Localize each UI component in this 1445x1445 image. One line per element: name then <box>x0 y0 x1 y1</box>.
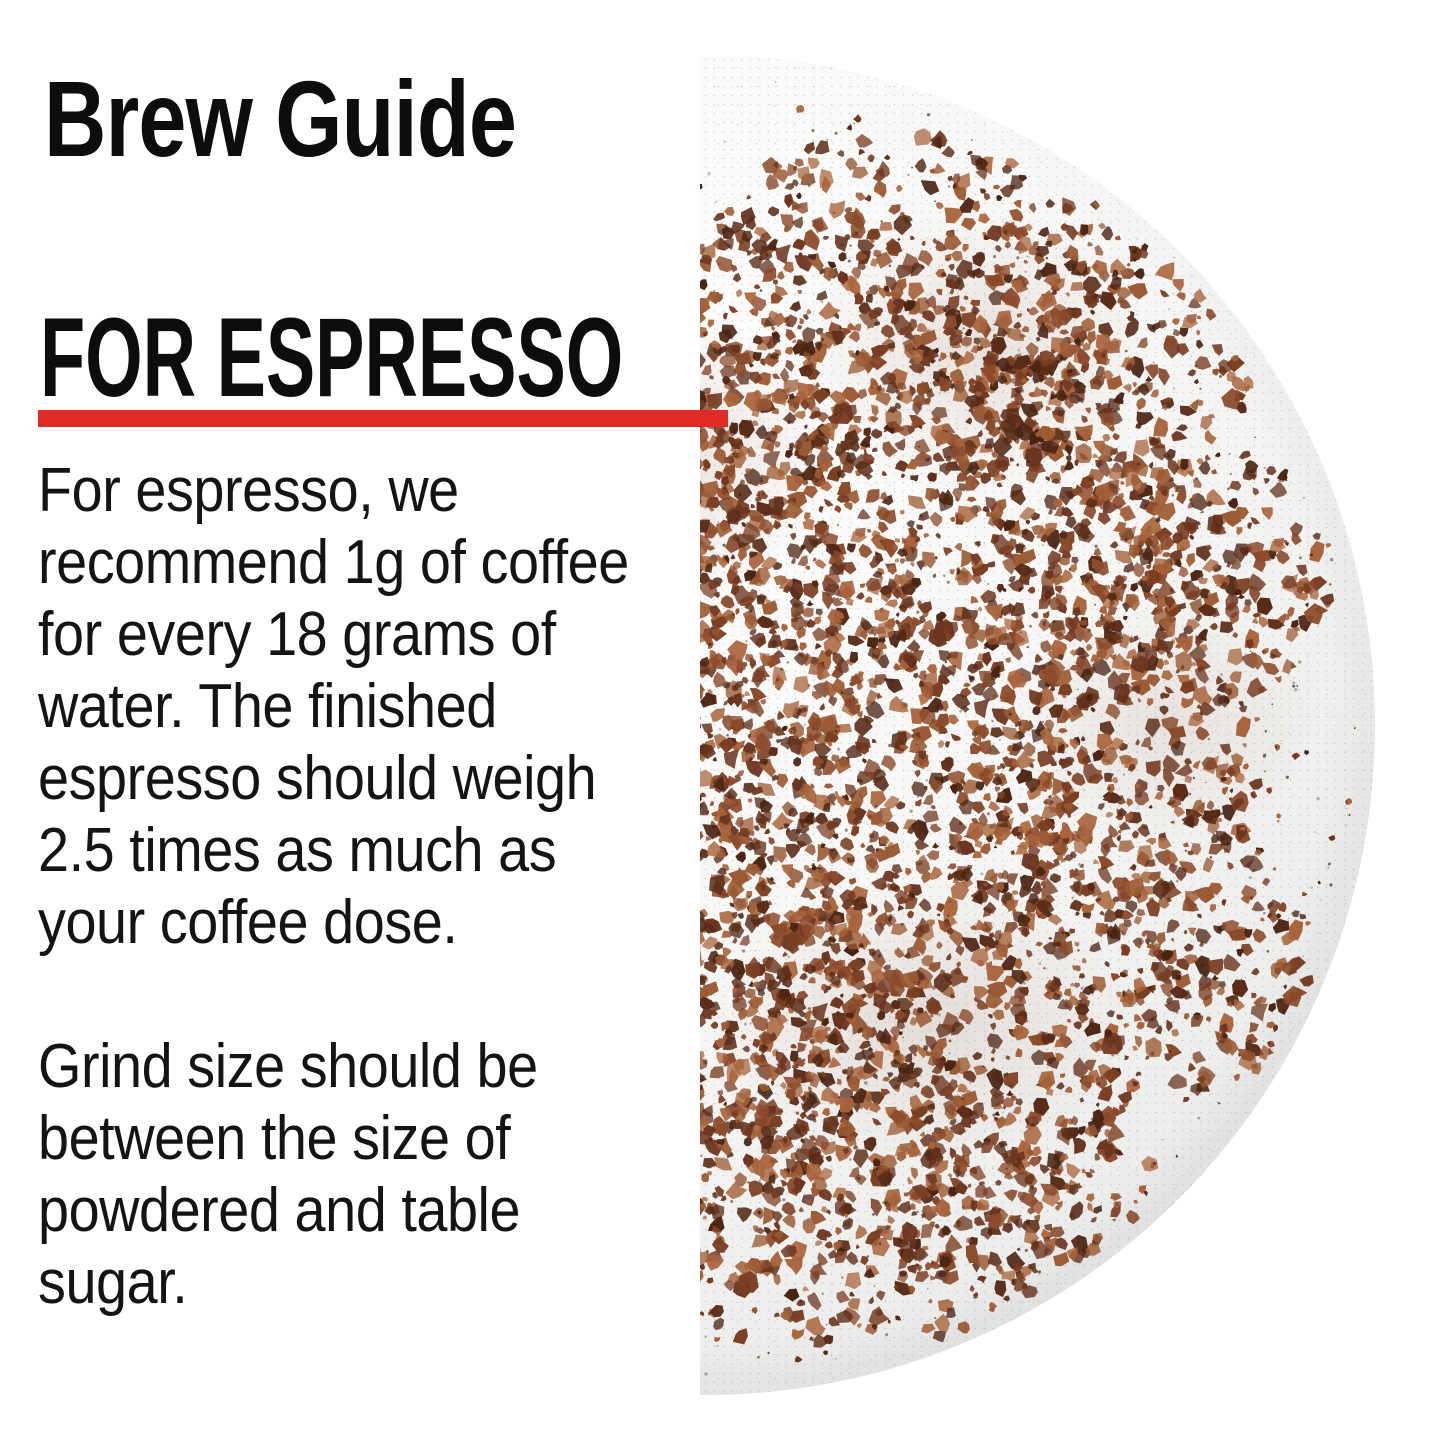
body-copy: For espresso, we recommend 1g of coffee … <box>38 455 678 1319</box>
body-paragraph-2: Grind size should be between the size of… <box>38 1031 668 1319</box>
section-heading: FOR ESPRESSO <box>40 302 623 414</box>
ceramic-plate <box>700 55 1375 1395</box>
heading-underline-rule <box>38 410 728 427</box>
text-panel: Brew Guide FOR ESPRESSO For espresso, we… <box>0 0 760 1445</box>
body-paragraph-1: For espresso, we recommend 1g of coffee … <box>38 455 668 959</box>
coffee-grounds-scatter <box>700 55 1375 1395</box>
page-title: Brew Guide <box>44 60 516 178</box>
coffee-grounds-photo <box>700 0 1445 1445</box>
brew-guide-page: Brew Guide FOR ESPRESSO For espresso, we… <box>0 0 1445 1445</box>
